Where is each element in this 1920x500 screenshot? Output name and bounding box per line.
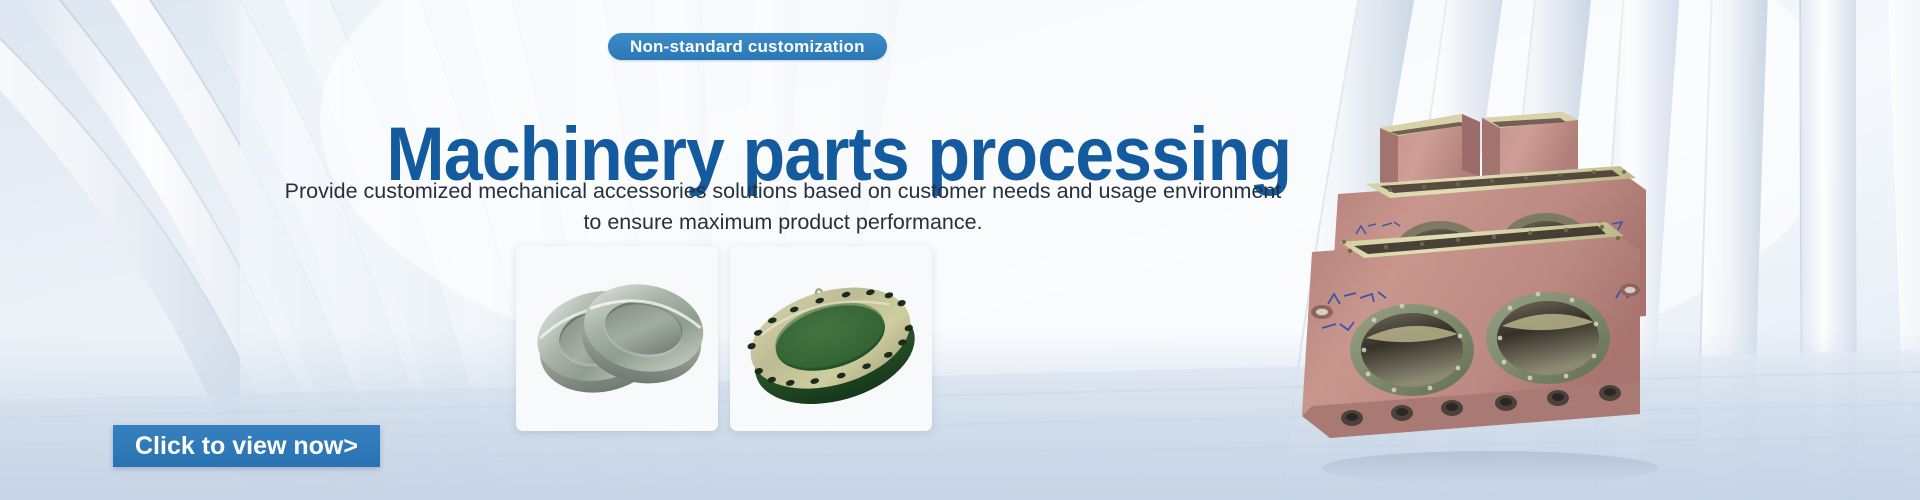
promo-banner: Non-standard customization Machinery par… xyxy=(0,0,1920,500)
subtitle-line-1: Provide customized mechanical accessorie… xyxy=(258,176,1308,207)
gearbox-housing-casting-photo xyxy=(1294,66,1674,486)
view-now-button[interactable]: Click to view now> xyxy=(113,425,380,467)
eyebrow-badge: Non-standard customization xyxy=(608,33,887,60)
product-card-list xyxy=(516,246,932,431)
banner-content: Non-standard customization Machinery par… xyxy=(0,0,1320,500)
product-card-steel-rings[interactable] xyxy=(516,246,718,431)
subtitle: Provide customized mechanical accessorie… xyxy=(258,176,1308,238)
product-card-green-flange-ring[interactable] xyxy=(730,246,932,431)
steel-rings-icon xyxy=(522,254,712,424)
subtitle-line-2: to ensure maximum product performance. xyxy=(258,207,1308,238)
green-flange-ring-icon xyxy=(735,254,927,424)
